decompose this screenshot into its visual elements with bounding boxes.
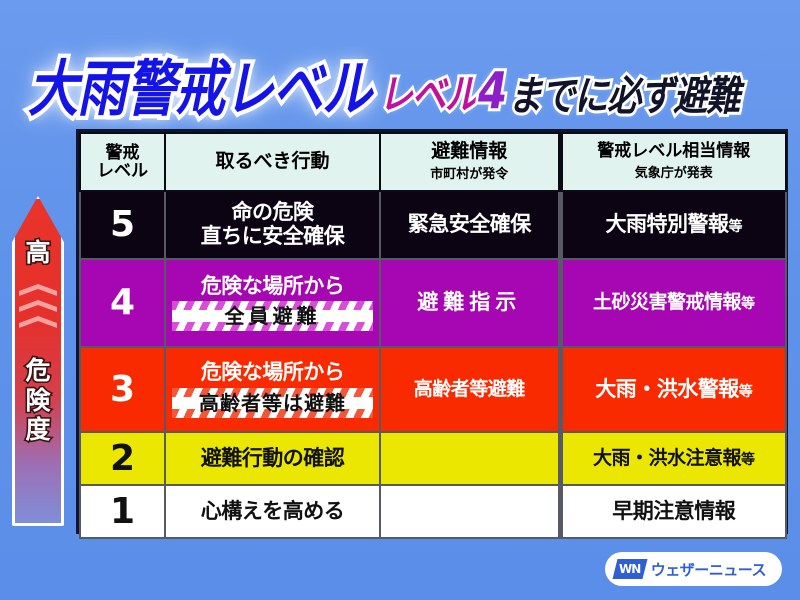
header-equivalent-info: 警戒レベル相当情報 気象庁が発表 bbox=[560, 133, 786, 191]
evacuation-cell-3: 高齢者等避難 bbox=[380, 347, 560, 432]
danger-level-arrow: 高 危 険 度 bbox=[12, 196, 64, 526]
table-row-level-4: 4 危険な場所から 全員避難 避難指示 土砂災害警戒情報等 bbox=[80, 259, 786, 347]
weathernews-logo-text: ウェザーニュース bbox=[651, 559, 766, 580]
table-row-level-1: 1 心構えを高める 早期注意情報 bbox=[80, 485, 786, 538]
header-evacuation-info: 避難情報 市町村が発令 bbox=[380, 133, 560, 191]
evacuation-cell-5: 緊急安全確保 bbox=[380, 191, 560, 259]
info-cell-3: 大雨・洪水警報等 bbox=[560, 347, 786, 432]
table-row-level-5: 5 命の危険 直ちに安全確保 緊急安全確保 大雨特別警報等 bbox=[80, 191, 786, 259]
weathernews-logo: WN ウェザーニュース bbox=[605, 552, 782, 586]
danger-risk-char-2: 険 bbox=[12, 386, 64, 416]
title-level-number: 4 bbox=[478, 62, 506, 121]
info-text-5: 大雨特別警報等 bbox=[563, 213, 786, 237]
info-text-3: 大雨・洪水警報等 bbox=[563, 378, 786, 402]
level-number-cell-5: 5 bbox=[80, 191, 165, 259]
action-highlight-box-3: 高齢者等は避難 bbox=[172, 388, 373, 418]
info-cell-1: 早期注意情報 bbox=[560, 485, 786, 538]
evacuation-cell-1 bbox=[380, 485, 560, 538]
title-level4-callout: レベル4 bbox=[379, 67, 506, 117]
action-cell-2: 避難行動の確認 bbox=[165, 432, 380, 485]
level-number-cell-4: 4 bbox=[80, 259, 165, 347]
info-text-1: 早期注意情報 bbox=[563, 500, 786, 524]
title-level-word: レベル bbox=[379, 71, 478, 119]
evacuation-cell-4: 避難指示 bbox=[380, 259, 560, 347]
title-tail-text: までに必ず避難 bbox=[508, 76, 739, 117]
danger-risk-char-1: 危 bbox=[12, 356, 64, 386]
action-cell-1: 心構えを高める bbox=[165, 485, 380, 538]
action-cell-5: 命の危険 直ちに安全確保 bbox=[165, 191, 380, 259]
danger-arrow-risk-label: 危 険 度 bbox=[12, 356, 64, 445]
danger-arrow-high-label: 高 bbox=[12, 240, 64, 265]
evacuation-cell-2 bbox=[380, 432, 560, 485]
action-highlight-box-4: 全員避難 bbox=[172, 301, 373, 331]
warning-level-table: 警戒 レベル 取るべき行動 避難情報 市町村が発令 警戒レベル相当情報 気象庁が… bbox=[79, 132, 787, 539]
header-warning-level: 警戒 レベル bbox=[80, 133, 165, 191]
action-cell-4: 危険な場所から 全員避難 bbox=[165, 259, 380, 347]
level-number-cell-3: 3 bbox=[80, 347, 165, 432]
info-text-4: 土砂災害警戒情報等 bbox=[563, 292, 786, 314]
info-cell-4: 土砂災害警戒情報等 bbox=[560, 259, 786, 347]
table-row-level-3: 3 危険な場所から 高齢者等は避難 高齢者等避難 大雨・洪水警報等 bbox=[80, 347, 786, 432]
table-row-level-2: 2 避難行動の確認 大雨・洪水注意報等 bbox=[80, 432, 786, 485]
title-subtitle: レベル4 までに必ず避難 bbox=[379, 75, 739, 120]
info-cell-2: 大雨・洪水注意報等 bbox=[560, 432, 786, 485]
level-number-cell-1: 1 bbox=[80, 485, 165, 538]
wn-logo-icon: WN bbox=[612, 559, 647, 579]
level-number-cell-2: 2 bbox=[80, 432, 165, 485]
page-title: 大雨警戒レベル レベル4 までに必ず避難 bbox=[0, 44, 800, 120]
warning-level-table-container: 警戒 レベル 取るべき行動 避難情報 市町村が発令 警戒レベル相当情報 気象庁が… bbox=[76, 129, 788, 534]
danger-risk-char-3: 度 bbox=[12, 415, 64, 445]
header-required-action: 取るべき行動 bbox=[165, 133, 380, 191]
title-main-text: 大雨警戒レベル bbox=[28, 59, 371, 120]
action-cell-3: 危険な場所から 高齢者等は避難 bbox=[165, 347, 380, 432]
info-cell-5: 大雨特別警報等 bbox=[560, 191, 786, 259]
table-header-row: 警戒 レベル 取るべき行動 避難情報 市町村が発令 警戒レベル相当情報 気象庁が… bbox=[80, 133, 786, 191]
info-text-2: 大雨・洪水注意報等 bbox=[563, 448, 786, 470]
